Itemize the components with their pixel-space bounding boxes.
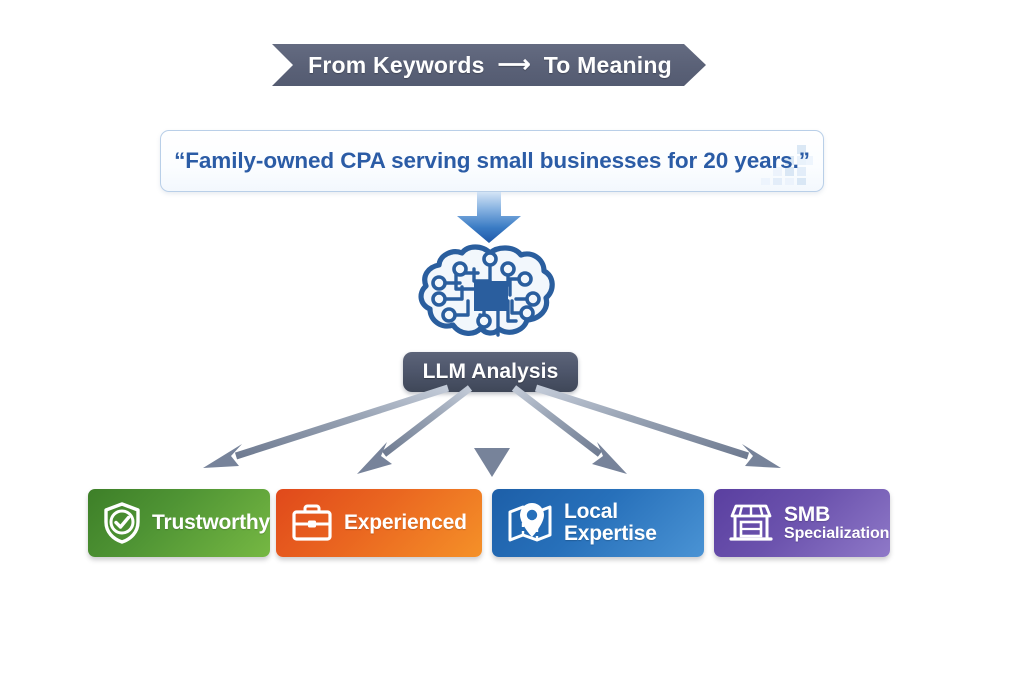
attribute-badge-row: Trustworthy Experienced [0,489,1024,559]
banner-from-label: From Keywords [308,52,484,79]
llm-analysis-label: LLM Analysis [423,360,559,384]
badge-label: Local Expertise [564,501,704,545]
badge-smb-specialization[interactable]: SMB Specialization [714,489,890,557]
badge-label: SMB [784,504,889,526]
badge-local-expertise[interactable]: Local Expertise [492,489,704,557]
right-arrow-icon: ⟶ [498,53,531,76]
badge-experienced[interactable]: Experienced [276,489,482,557]
fan-arrow-1 [203,388,448,468]
badge-experienced-text: Experienced [344,512,467,534]
banner-label: From Keywords ⟶ To Meaning [272,44,708,86]
shield-check-icon [102,501,142,545]
badge-sublabel: Specialization [784,526,889,543]
fan-arrow-2 [357,388,470,474]
banner-to-label: To Meaning [544,52,672,79]
badge-trustworthy[interactable]: Trustworthy [88,489,270,557]
badge-local-expertise-text: Local Expertise [564,501,704,545]
down-arrow-icon [455,192,523,244]
llm-analysis-node: LLM Analysis [403,352,578,392]
fan-arrow-5 [536,388,781,468]
diagram-canvas: From Keywords ⟶ To Meaning “Family-owned… [0,0,1024,683]
badge-smb-specialization-text: SMB Specialization [784,504,889,543]
input-query-box: “Family-owned CPA serving small business… [160,130,824,192]
map-pin-icon [506,501,554,545]
banner-ribbon: From Keywords ⟶ To Meaning [272,44,708,86]
storefront-icon [728,501,774,545]
briefcase-icon [290,502,334,544]
ai-brain-circuit-icon [412,243,568,343]
query-text: “Family-owned CPA serving small business… [161,131,823,191]
badge-label: Experienced [344,512,467,534]
fan-arrow-4 [514,388,627,474]
fan-arrow-3 [474,388,510,477]
badge-label: Trustworthy [152,512,270,534]
fan-out-arrow-icon [0,380,1024,490]
badge-trustworthy-text: Trustworthy [152,512,270,534]
